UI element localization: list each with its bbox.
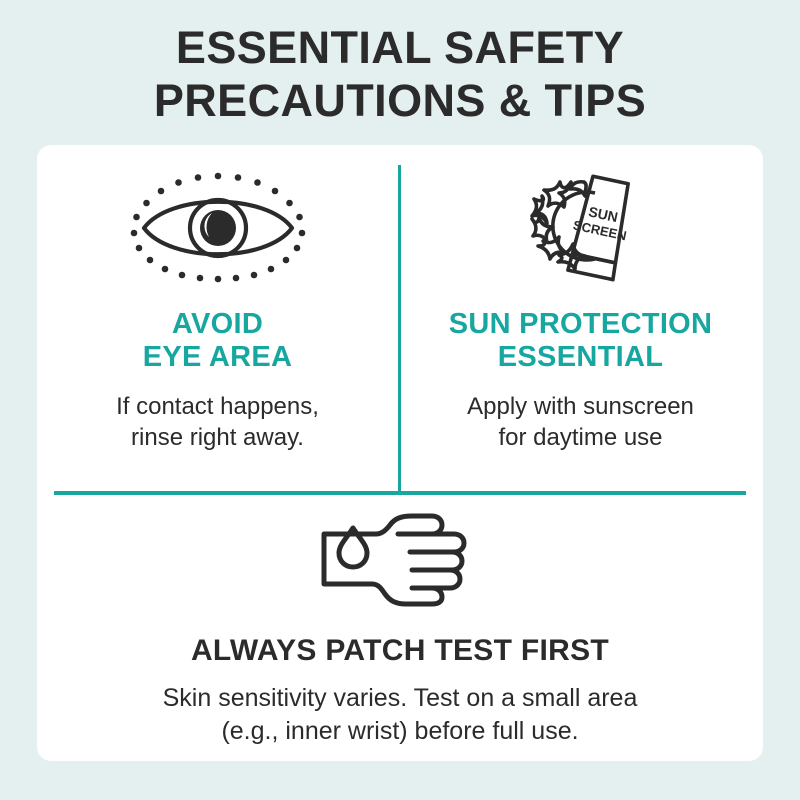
tip-body-sun-protection: Apply with sunscreen for daytime use (408, 391, 753, 453)
page-title-line-2: PRECAUTIONS & TIPS (0, 75, 800, 128)
tip-body-patch-test: Skin sensitivity varies. Test on a small… (45, 682, 755, 747)
tip-card-sun-protection: SUN SCREEN SUN PROTECTION ESSENTIAL Appl… (408, 160, 753, 453)
hand-icon-wrap (45, 500, 755, 620)
tip-body-line-1: Skin sensitivity varies. Test on a small… (45, 682, 755, 715)
tip-heading-avoid-eye-area: AVOID EYE AREA (45, 308, 390, 374)
hand-with-droplet-icon (320, 512, 480, 608)
tip-card-avoid-eye-area: AVOID EYE AREA If contact happens, rinse… (45, 160, 390, 453)
horizontal-divider (54, 491, 746, 495)
sunscreen-icon-wrap: SUN SCREEN (408, 160, 753, 290)
tip-body-line-1: If contact happens, (45, 391, 390, 422)
tip-body-line-2: for daytime use (408, 422, 753, 453)
sunscreen-icon: SUN SCREEN (515, 163, 647, 287)
tip-heading-line-2: EYE AREA (45, 341, 390, 374)
tip-body-line-2: rinse right away. (45, 422, 390, 453)
eye-icon-wrap (45, 160, 390, 290)
page-title: ESSENTIAL SAFETY PRECAUTIONS & TIPS (0, 22, 800, 127)
tip-heading-line-2: ESSENTIAL (408, 341, 753, 374)
infographic-page: ESSENTIAL SAFETY PRECAUTIONS & TIPS (0, 0, 800, 800)
tip-card-patch-test: ALWAYS PATCH TEST FIRST Skin sensitivity… (45, 500, 755, 747)
tip-body-line-1: Apply with sunscreen (408, 391, 753, 422)
tip-heading-line-1: AVOID (45, 308, 390, 341)
tip-body-line-2: (e.g., inner wrist) before full use. (45, 715, 755, 748)
page-title-line-1: ESSENTIAL SAFETY (0, 22, 800, 75)
tip-heading-line-1: SUN PROTECTION (408, 308, 753, 341)
tip-heading-line-1: ALWAYS PATCH TEST FIRST (45, 634, 755, 668)
tip-heading-patch-test: ALWAYS PATCH TEST FIRST (45, 634, 755, 668)
eye-icon (130, 167, 306, 283)
vertical-divider (398, 165, 401, 493)
tip-body-avoid-eye-area: If contact happens, rinse right away. (45, 391, 390, 453)
tip-heading-sun-protection: SUN PROTECTION ESSENTIAL (408, 308, 753, 374)
